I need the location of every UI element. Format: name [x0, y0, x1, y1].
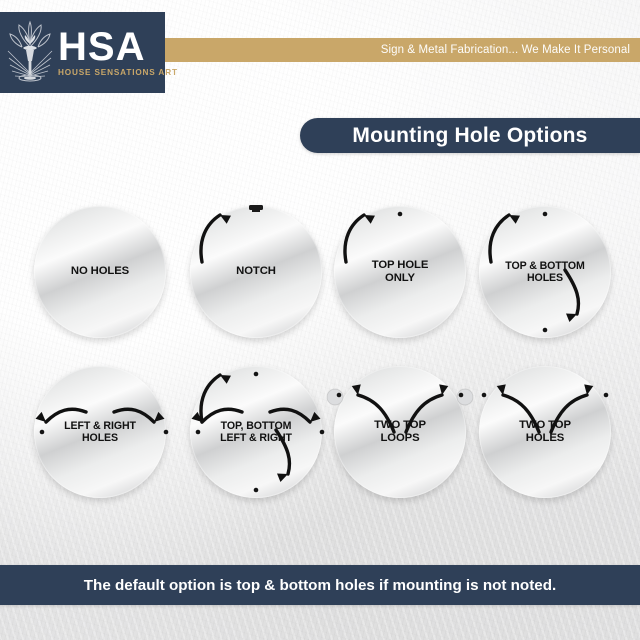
disc-annotations	[24, 356, 176, 524]
mounting-hole-upper-right	[604, 393, 609, 398]
brand-logo: HSA HOUSE SENSATIONS ART	[0, 12, 165, 93]
brand-subtitle: HOUSE SENSATIONS ART	[58, 68, 178, 77]
mounting-option-two-top-holes[interactable]: TWO TOPHOLES	[469, 356, 621, 524]
mounting-hole-top	[254, 372, 259, 377]
mounting-option-top-bottom[interactable]: TOP & BOTTOMHOLES	[469, 196, 621, 364]
arrow-upper-right	[551, 395, 587, 432]
mounting-option-two-top-loops[interactable]: TWO TOPLOOPS	[324, 356, 476, 524]
tagline-text: Sign & Metal Fabrication... We Make It P…	[381, 44, 630, 56]
disc-annotations	[24, 196, 176, 364]
loop-tab	[327, 389, 343, 405]
footer-note-bar: The default option is top & bottom holes…	[0, 565, 640, 605]
arrow-up	[201, 215, 220, 262]
mounting-hole-upper-left	[482, 393, 487, 398]
arrow-left	[202, 409, 242, 422]
arrow-upper-left	[358, 395, 394, 432]
disc-annotations	[180, 356, 332, 524]
mounting-option-left-right[interactable]: LEFT & RIGHTHOLES	[24, 356, 176, 524]
mounting-option-notch[interactable]: NOTCH	[180, 196, 332, 364]
mounting-hole-left	[40, 430, 45, 435]
arrow-upper-right	[406, 395, 442, 432]
arrow-left	[46, 409, 86, 422]
mounting-hole-top	[543, 212, 548, 217]
page-title: Mounting Hole Options	[352, 124, 587, 148]
footer-note: The default option is top & bottom holes…	[84, 577, 556, 594]
arrow-head-up	[507, 211, 520, 224]
mounting-hole-top	[398, 212, 403, 217]
arrow-up	[490, 215, 509, 262]
mounting-options-grid: NO HOLESNOTCHTOP HOLEONLYTOP & BOTTOMHOL…	[0, 196, 640, 556]
disc-annotations	[180, 196, 332, 364]
mounting-option-top-hole-only[interactable]: TOP HOLEONLY	[324, 196, 476, 364]
page-title-banner: Mounting Hole Options	[300, 118, 640, 153]
header-tagline: Sign & Metal Fabrication... We Make It P…	[381, 38, 630, 62]
arrow-head-up	[218, 371, 231, 384]
arrow-right	[270, 409, 310, 422]
brand-name: HSA	[58, 28, 178, 66]
mounting-hole-upper-left	[337, 393, 342, 398]
arrow-head-up	[362, 211, 375, 224]
arrow-down	[276, 430, 290, 474]
arrow-up	[345, 215, 364, 262]
lotus-torch-emblem-icon	[4, 17, 56, 89]
disc-annotations	[324, 356, 476, 524]
arrow-head-up	[218, 211, 231, 224]
mounting-option-no-holes[interactable]: NO HOLES	[24, 196, 176, 364]
mounting-hole-bottom	[254, 488, 259, 493]
mounting-hole-left	[196, 430, 201, 435]
mounting-option-top-bottom-left-right[interactable]: TOP, BOTTOMLEFT & RIGHT	[180, 356, 332, 524]
disc-annotations	[324, 196, 476, 364]
arrow-right	[114, 409, 154, 422]
arrow-down	[565, 270, 579, 314]
mounting-hole-right	[164, 430, 169, 435]
disc-annotations	[469, 356, 621, 524]
disc-annotations	[469, 196, 621, 364]
mounting-hole-upper-right	[459, 393, 464, 398]
notch-slot-inner	[252, 209, 260, 212]
mounting-hole-bottom	[543, 328, 548, 333]
arrow-upper-left	[503, 395, 539, 432]
